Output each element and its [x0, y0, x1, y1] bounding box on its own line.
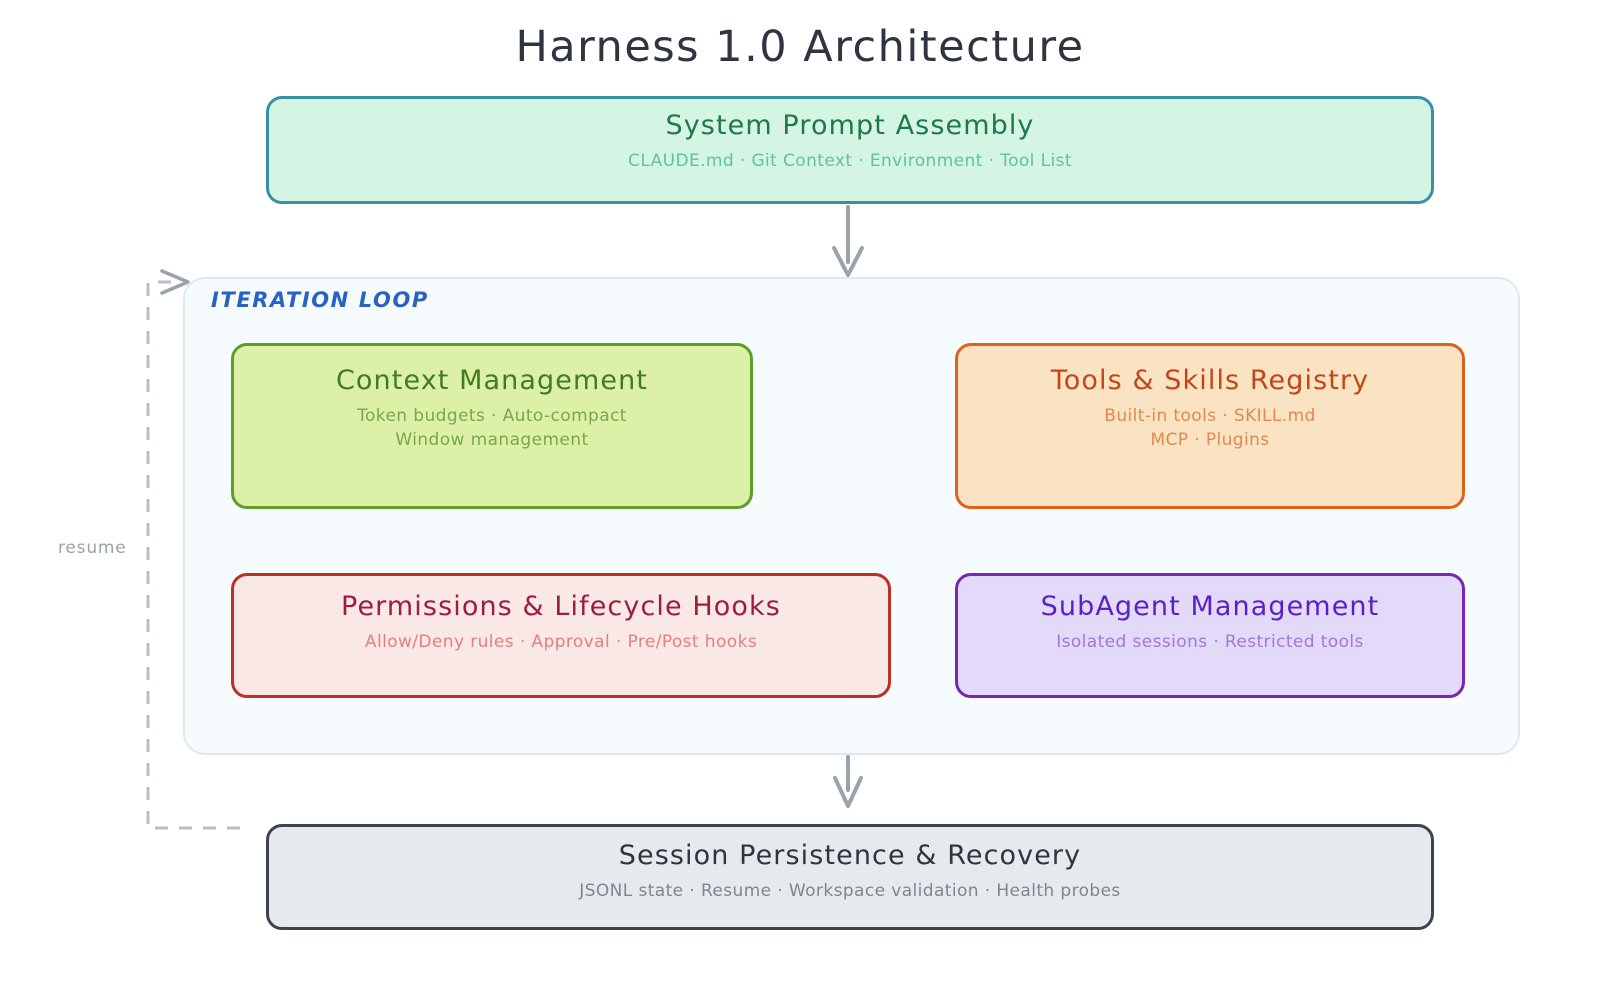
node-tools-skills-registry[interactable]: Tools & Skills Registry Built-in tools ·…: [955, 343, 1465, 509]
node-context-management[interactable]: Context Management Token budgets · Auto-…: [231, 343, 753, 509]
node-permissions-lifecycle-hooks-title: Permissions & Lifecycle Hooks: [341, 590, 781, 624]
node-subagent-management-title: SubAgent Management: [1041, 590, 1380, 624]
iteration-loop-label: ITERATION LOOP: [211, 288, 429, 312]
node-system-prompt-assembly-subtitle: CLAUDE.md · Git Context · Environment · …: [628, 149, 1072, 174]
node-subagent-management[interactable]: SubAgent Management Isolated sessions · …: [955, 573, 1465, 698]
edge-system-to-loop: [834, 207, 862, 275]
node-context-management-title: Context Management: [336, 364, 648, 398]
node-context-management-subtitle: Token budgets · Auto-compact Window mana…: [357, 404, 627, 453]
node-session-persistence-recovery[interactable]: Session Persistence & Recovery JSONL sta…: [266, 824, 1434, 930]
edge-label-resume: resume: [58, 538, 127, 558]
node-session-persistence-recovery-title: Session Persistence & Recovery: [619, 839, 1081, 873]
node-system-prompt-assembly-title: System Prompt Assembly: [665, 109, 1034, 143]
node-permissions-lifecycle-hooks[interactable]: Permissions & Lifecycle Hooks Allow/Deny…: [231, 573, 891, 698]
page-title: Harness 1.0 Architecture: [0, 22, 1600, 72]
node-subagent-management-subtitle: Isolated sessions · Restricted tools: [1056, 630, 1364, 655]
node-tools-skills-registry-title: Tools & Skills Registry: [1051, 364, 1370, 398]
node-system-prompt-assembly[interactable]: System Prompt Assembly CLAUDE.md · Git C…: [266, 96, 1434, 204]
edge-loop-to-session: [835, 757, 861, 806]
node-tools-skills-registry-subtitle: Built-in tools · SKILL.md MCP · Plugins: [1104, 404, 1316, 453]
node-permissions-lifecycle-hooks-subtitle: Allow/Deny rules · Approval · Pre/Post h…: [365, 630, 757, 655]
node-session-persistence-recovery-subtitle: JSONL state · Resume · Workspace validat…: [579, 879, 1120, 904]
